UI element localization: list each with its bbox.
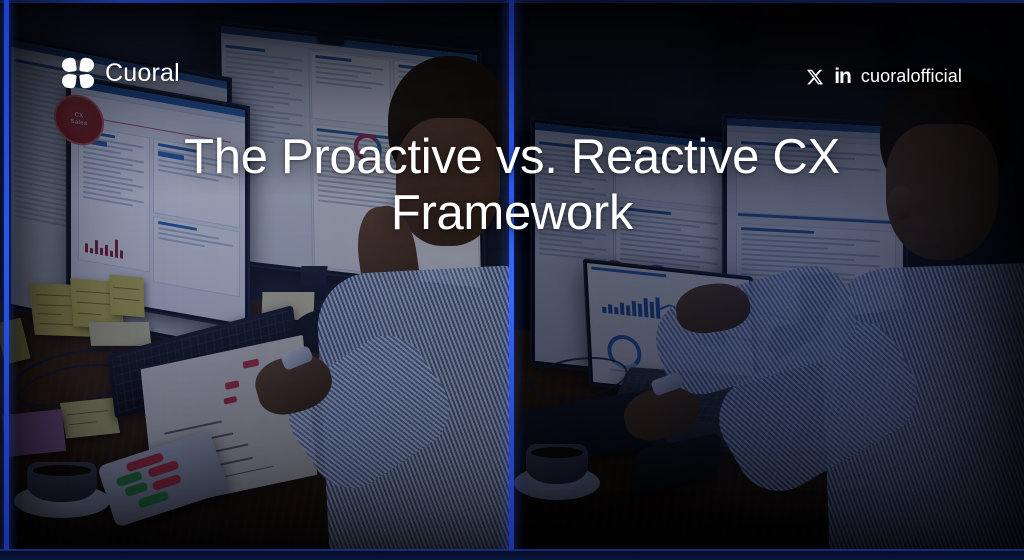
coffee-cup [14, 462, 110, 532]
sticky-note-purple [2, 409, 66, 457]
petal-bottom-right [79, 73, 95, 89]
dashboard-bar-chart [601, 287, 660, 319]
bottom-edge-band [0, 550, 1024, 560]
sticky-note [109, 275, 145, 318]
left-edge-accent [4, 0, 9, 560]
petal-top-right [79, 57, 95, 73]
badge-line-2: Sales [70, 119, 87, 128]
coffee-surface [531, 447, 583, 458]
brand-name: Cuoral [105, 59, 180, 88]
wall-light-panel [520, 0, 710, 130]
social-handle-group[interactable]: in cuoralofficial [806, 66, 962, 87]
coffee-surface [33, 465, 91, 476]
social-banner: CX Sales [0, 0, 1024, 560]
page-title: The Proactive vs. Reactive CX Framework [0, 130, 1024, 242]
cuoral-clover-icon [62, 58, 94, 88]
panel-divider [509, 0, 514, 560]
petal-bottom-left [61, 73, 77, 89]
bottom-edge-accent [0, 549, 1024, 551]
linkedin-icon[interactable]: in [834, 66, 851, 87]
brand-logo[interactable]: Cuoral [62, 58, 180, 88]
sticky-note [60, 397, 120, 438]
x-twitter-icon[interactable] [806, 68, 824, 86]
coffee-cup [514, 444, 600, 510]
petal-top-left [61, 57, 77, 73]
social-handle-text: cuoralofficial [861, 66, 962, 87]
sticky-note [89, 322, 152, 346]
